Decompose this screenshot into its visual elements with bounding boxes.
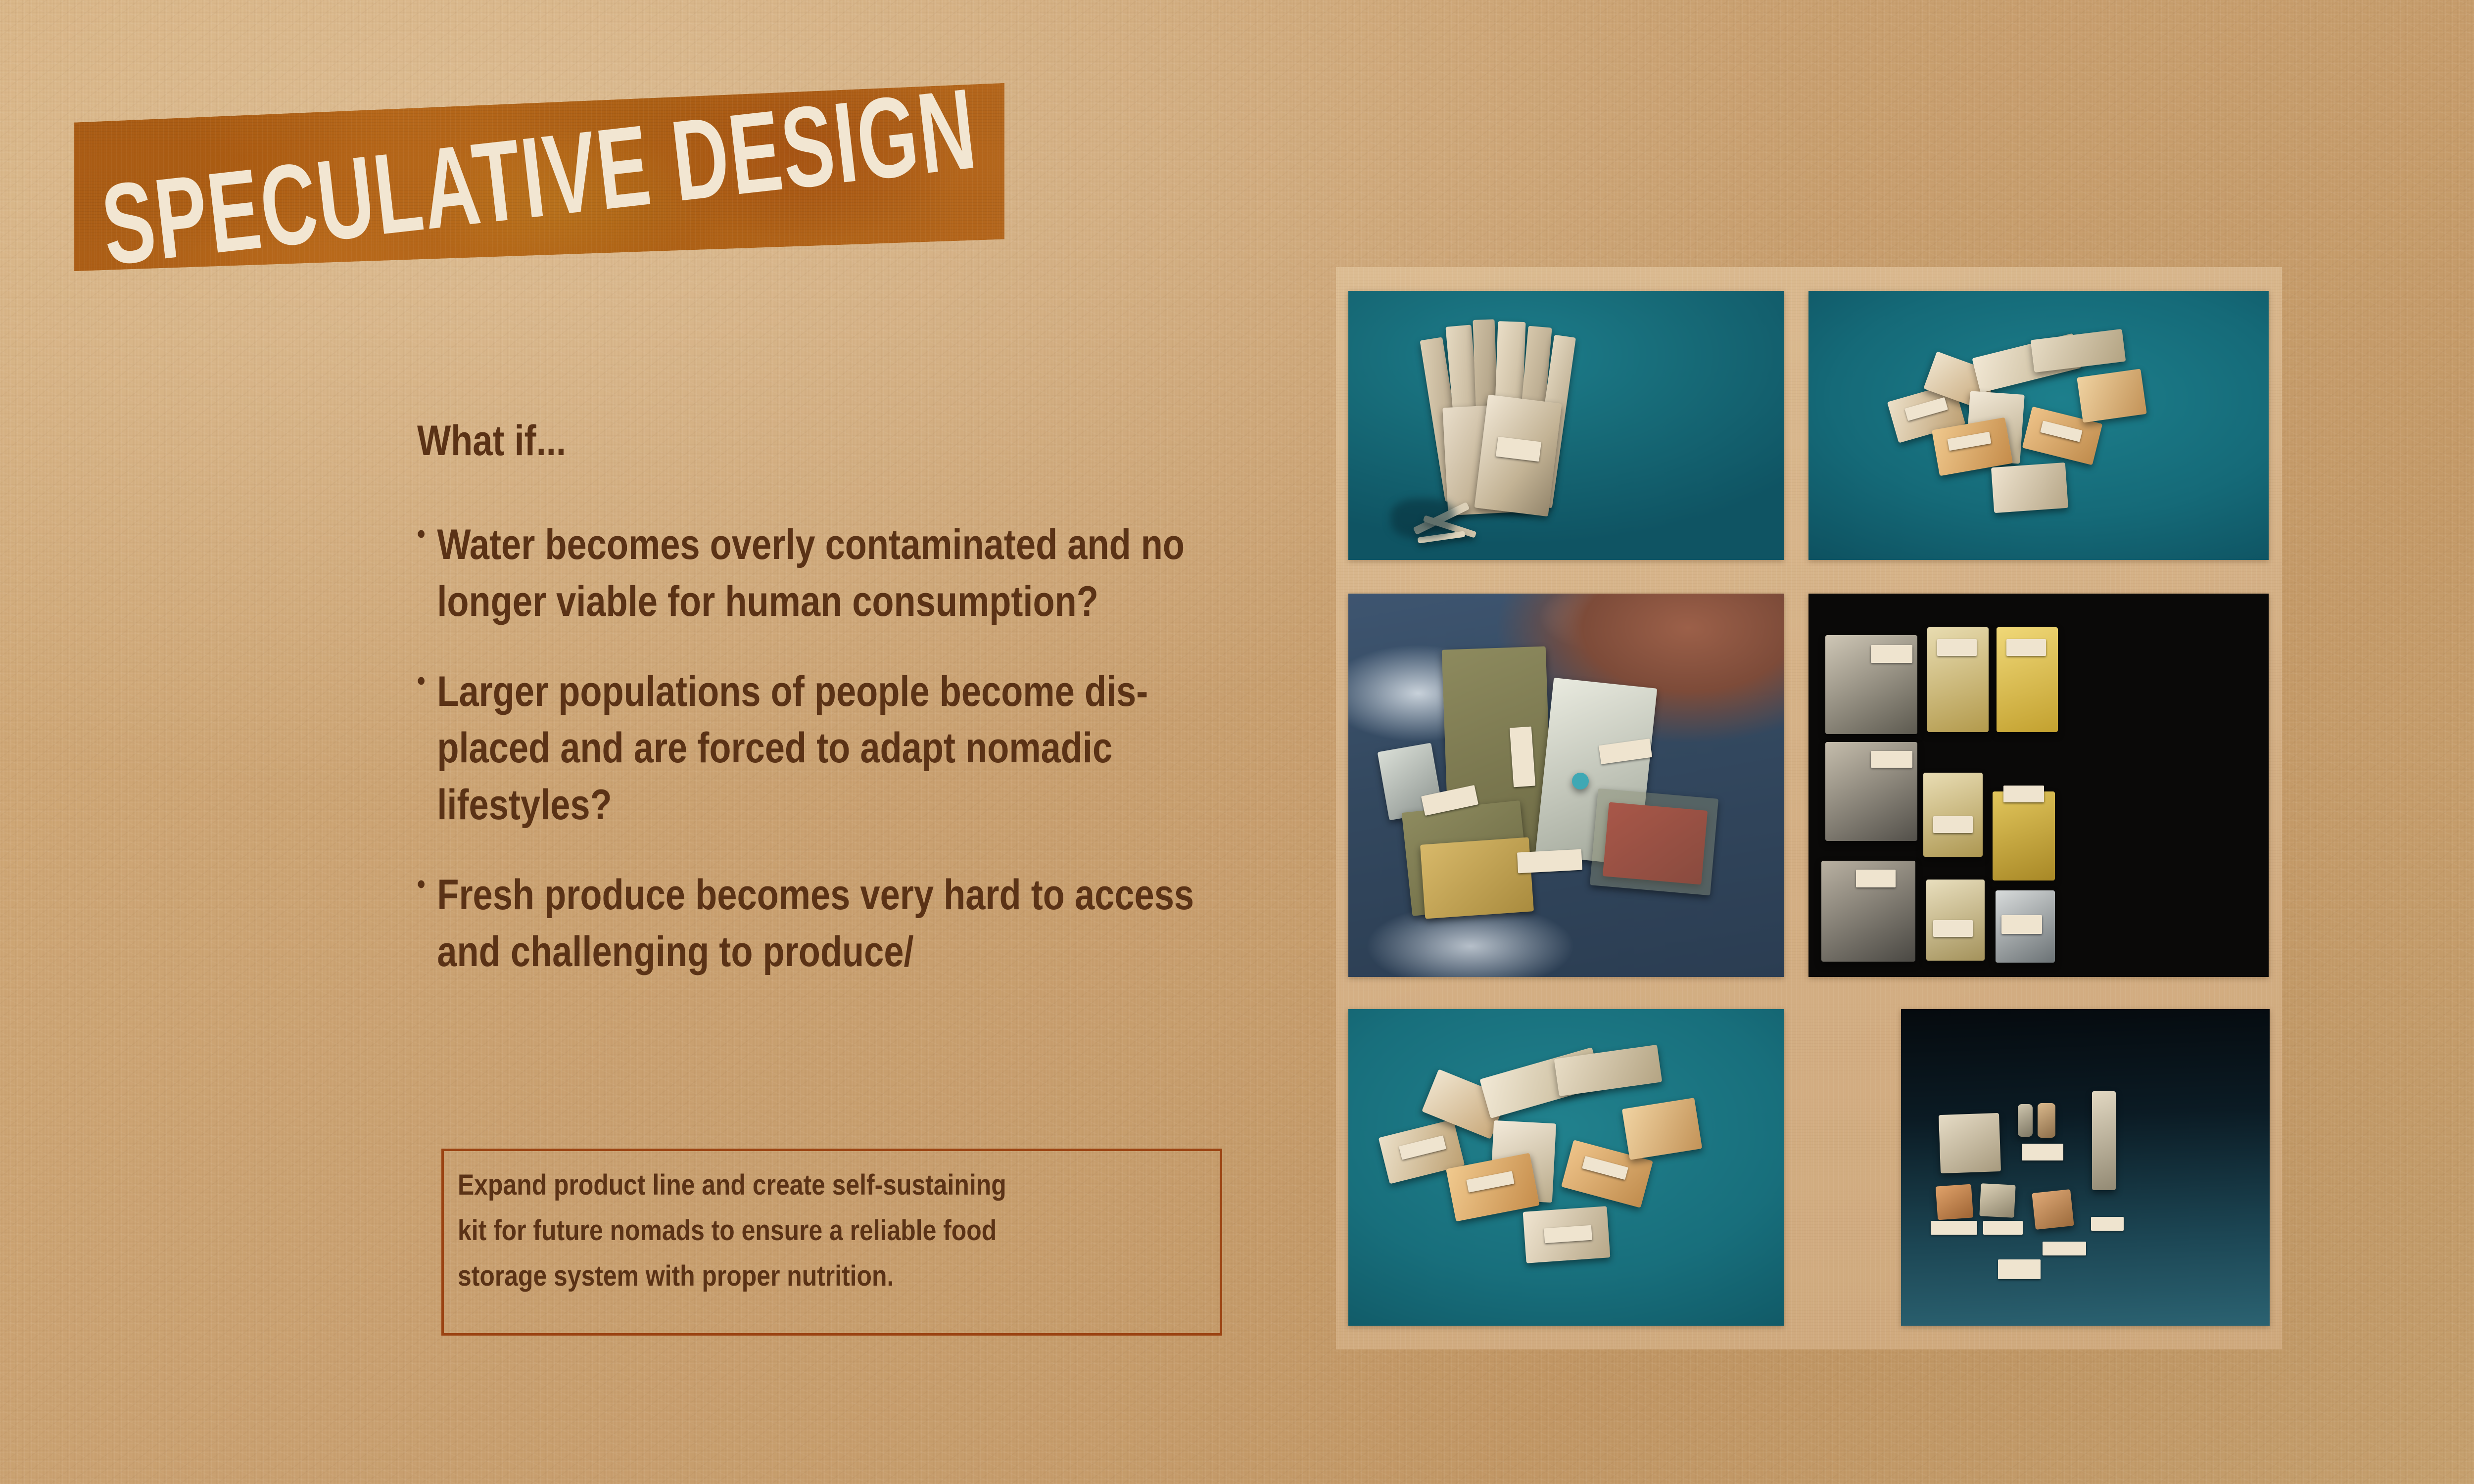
bullet-list: Water becomes overly contaminated and no… xyxy=(417,516,1238,980)
title-banner-text: SPECULATIVE DESIGN xyxy=(67,32,1012,322)
callout-body: Expand product line and create self-sust… xyxy=(444,1151,1220,1291)
page-title: SPECULATIVE DESIGN xyxy=(97,71,982,283)
bullet-item-displacement: Larger populations of people become dis-… xyxy=(417,663,1258,833)
copy-column: What if... Water becomes overly contamin… xyxy=(417,418,1238,980)
callout-box: Expand product line and create self-sust… xyxy=(441,1149,1222,1336)
bullet-item-produce: Fresh produce becomes very hard to acces… xyxy=(417,867,1258,980)
title-banner: SPECULATIVE DESIGN xyxy=(74,83,1004,271)
callout-line-3: storage system with proper nutrition. xyxy=(458,1262,1113,1291)
photo-gallery xyxy=(1336,267,2282,1349)
lead-question: What if... xyxy=(417,418,1107,463)
gallery-photo-pouch-stack xyxy=(1348,291,1784,560)
callout-line-2: kit for future nomads to ensure a reliab… xyxy=(458,1216,1113,1245)
gallery-photo-black-grid xyxy=(1808,594,2269,977)
callout-line-1: Expand product line and create self-sust… xyxy=(458,1171,1113,1200)
gallery-photo-snow-field xyxy=(1348,594,1784,977)
bullet-item-water: Water becomes overly contaminated and no… xyxy=(417,516,1258,630)
gallery-photo-packet-flatlay-bottom xyxy=(1348,1009,1784,1326)
gallery-photo-packet-flatlay-top xyxy=(1808,291,2269,560)
gallery-photo-labelled-kit xyxy=(1901,1009,2270,1326)
slide-canvas: SPECULATIVE DESIGN What if... Water beco… xyxy=(0,0,2474,1484)
